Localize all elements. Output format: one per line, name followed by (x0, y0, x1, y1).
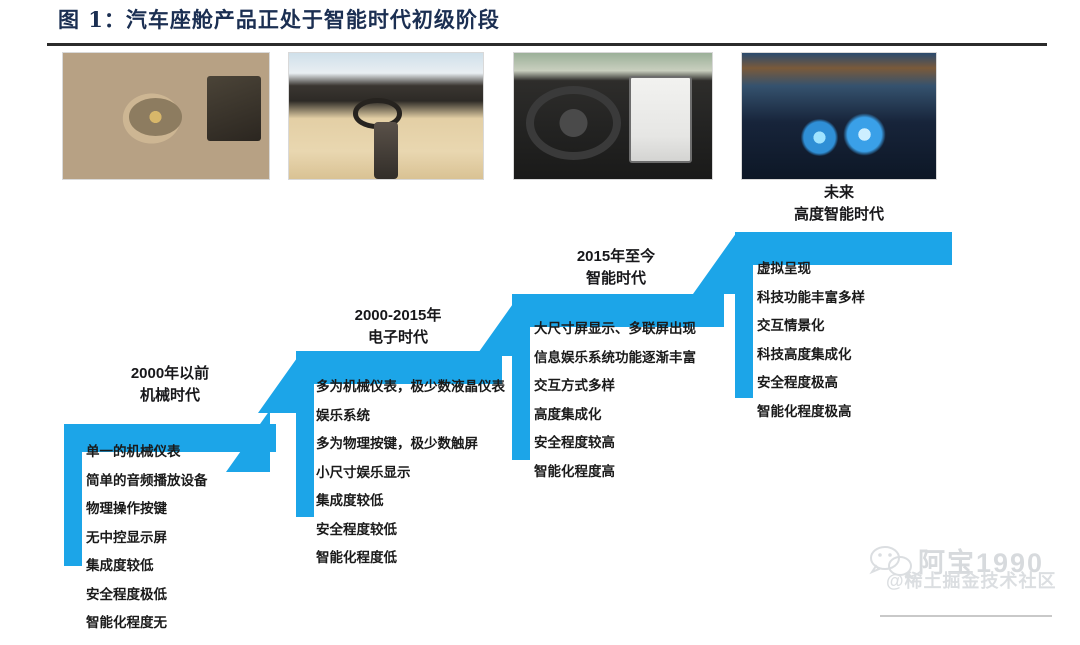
stage-1-era: 机械时代 (80, 385, 260, 407)
stage-2-item-list: 多为机械仪表，极少数液晶仪表 娱乐系统 多为物理按键，极少数触屏 小尺寸娱乐显示… (316, 380, 505, 580)
list-item: 智能化程度高 (534, 465, 696, 479)
photo-intelligent-era (513, 52, 713, 180)
list-item: 安全程度较低 (316, 523, 505, 537)
stage-1-heading: 2000年以前 机械时代 (80, 363, 260, 407)
photo-electronic-era (288, 52, 484, 180)
stage-4-item-list: 虚拟呈现 科技功能丰富多样 交互情景化 科技高度集成化 安全程度极高 智能化程度… (757, 262, 865, 433)
list-item: 单一的机械仪表 (86, 445, 208, 459)
stage-2-era: 电子时代 (300, 327, 496, 349)
list-item: 无中控显示屏 (86, 531, 208, 545)
list-item: 信息娱乐系统功能逐渐丰富 (534, 351, 696, 365)
photo-future-era-image (742, 53, 936, 179)
photo-electronic-era-image (289, 53, 483, 179)
list-item: 简单的音频播放设备 (86, 474, 208, 488)
stage-3-item-list: 大尺寸屏显示、多联屏出现 信息娱乐系统功能逐渐丰富 交互方式多样 高度集成化 安… (534, 322, 696, 493)
title-divider (47, 43, 1047, 46)
watermark-community: @稀土掘金技术社区 (886, 567, 1057, 593)
list-item: 科技功能丰富多样 (757, 291, 865, 305)
list-item: 多为物理按键，极少数触屏 (316, 437, 505, 451)
list-item: 娱乐系统 (316, 409, 505, 423)
list-item: 多为机械仪表，极少数液晶仪表 (316, 380, 505, 394)
stage-1-item-list: 单一的机械仪表 简单的音频播放设备 物理操作按键 无中控显示屏 集成度较低 安全… (86, 445, 208, 645)
list-item: 集成度较低 (86, 559, 208, 573)
stage-2-side-bar (296, 351, 314, 517)
stage-3-heading: 2015年至今 智能时代 (516, 246, 716, 290)
figure-canvas: 图 1：汽车座舱产品正处于智能时代初级阶段 未来 高度智能时代 虚拟呈现 科技功… (0, 0, 1080, 627)
photo-mechanical-era-image (63, 53, 269, 179)
list-item: 交互情景化 (757, 319, 865, 333)
wechat-icon (868, 545, 916, 579)
list-item: 高度集成化 (534, 408, 696, 422)
list-item: 安全程度极高 (757, 376, 865, 390)
stage-4-heading: 未来 高度智能时代 (733, 182, 945, 226)
watermark-account: 阿宝1990 (918, 541, 1044, 580)
stage-2-period: 2000-2015年 (355, 307, 442, 324)
list-item: 集成度较低 (316, 494, 505, 508)
list-item: 智能化程度无 (86, 616, 208, 630)
list-item: 智能化程度极高 (757, 405, 865, 419)
list-item: 安全程度极低 (86, 588, 208, 602)
list-item: 科技高度集成化 (757, 348, 865, 362)
figure-title: 图 1：汽车座舱产品正处于智能时代初级阶段 (58, 4, 500, 34)
bottom-divider (880, 615, 1052, 617)
stage-2-heading: 2000-2015年 电子时代 (300, 305, 496, 349)
stage-3-period: 2015年至今 (577, 248, 655, 265)
stage-4-era: 高度智能时代 (733, 204, 945, 226)
list-item: 大尺寸屏显示、多联屏出现 (534, 322, 696, 336)
stage-4-period: 未来 (824, 184, 854, 201)
photo-future-era (741, 52, 937, 180)
list-item: 小尺寸娱乐显示 (316, 466, 505, 480)
list-item: 智能化程度低 (316, 551, 505, 565)
stage-1-period: 2000年以前 (131, 365, 209, 382)
list-item: 安全程度较高 (534, 436, 696, 450)
photo-mechanical-era (62, 52, 270, 180)
stage-4-side-bar (735, 232, 753, 398)
stage-3-side-bar (512, 294, 530, 460)
photo-intelligent-era-image (514, 53, 712, 179)
list-item: 交互方式多样 (534, 379, 696, 393)
stage-3-era: 智能时代 (516, 268, 716, 290)
watermark: 阿宝1990 @稀土掘金技术社区 (862, 541, 1072, 603)
list-item: 物理操作按键 (86, 502, 208, 516)
stage-1-side-bar (64, 424, 82, 566)
list-item: 虚拟呈现 (757, 262, 865, 276)
